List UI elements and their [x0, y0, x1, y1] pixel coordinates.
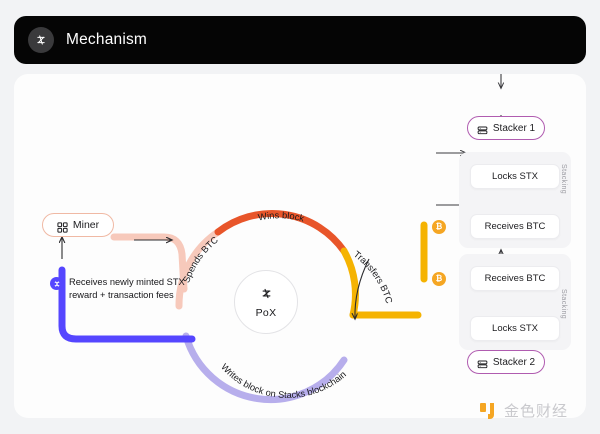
stacking-label-1: Stacking — [560, 164, 567, 194]
bitcoin-icon: ₿ — [432, 272, 446, 286]
miner-reward-text: Receives newly minted STX reward + trans… — [69, 276, 185, 302]
screenshot-root: Mechanism — [0, 0, 600, 434]
stacker-1-label: Stacker 1 — [493, 123, 535, 134]
step-label: Receives BTC — [485, 273, 546, 284]
jinse-logo-icon — [478, 401, 498, 421]
stacker-2-label: Stacker 2 — [493, 357, 535, 368]
stacker-1-step-locks-stx[interactable]: Locks STX — [470, 164, 560, 189]
step-label: Locks STX — [492, 323, 538, 334]
miner-reward-line2: reward + transaction fees — [69, 290, 174, 300]
stacker-2-node[interactable]: Stacker 2 — [467, 350, 545, 374]
stx-token-icon — [50, 277, 63, 290]
bitcoin-icon: ₿ — [432, 220, 446, 234]
page-title: Mechanism — [66, 31, 147, 49]
step-label: Receives BTC — [485, 221, 546, 232]
watermark-text: 金色财经 — [504, 400, 568, 421]
stacker-1-step-receives-btc[interactable]: Receives BTC — [470, 214, 560, 239]
bitcoin-glyph: ₿ — [436, 275, 443, 283]
database-icon — [477, 357, 488, 368]
step-label: Locks STX — [492, 171, 538, 182]
stacks-z-logo-icon — [28, 27, 54, 53]
bitcoin-glyph: ₿ — [436, 223, 443, 231]
watermark: 金色财经 — [478, 400, 568, 421]
miner-label: Miner — [73, 219, 99, 231]
stacking-label-2: Stacking — [560, 289, 567, 319]
database-icon — [477, 123, 488, 134]
stacker-1-node[interactable]: Stacker 1 — [467, 116, 545, 140]
stacker-2-step-receives-btc[interactable]: Receives BTC — [470, 266, 560, 291]
pox-label: PoX — [256, 307, 277, 319]
stacker-2-step-locks-stx[interactable]: Locks STX — [470, 316, 560, 341]
miner-reward-note: Receives newly minted STX reward + trans… — [50, 276, 230, 302]
arc-transfers-btc — [344, 251, 355, 315]
miner-node[interactable]: Miner — [42, 213, 114, 237]
diagram-card: Spends BTC Wins block Transfers BTC Writ… — [14, 74, 586, 418]
grid-squares-icon — [57, 220, 68, 231]
header-bar: Mechanism — [14, 16, 586, 64]
stacks-z-logo-icon — [259, 286, 274, 306]
arc-label-wins-block: Wins block — [257, 210, 305, 223]
miner-reward-line1: Receives newly minted STX — [69, 277, 185, 287]
pox-hub: PoX — [234, 270, 298, 334]
